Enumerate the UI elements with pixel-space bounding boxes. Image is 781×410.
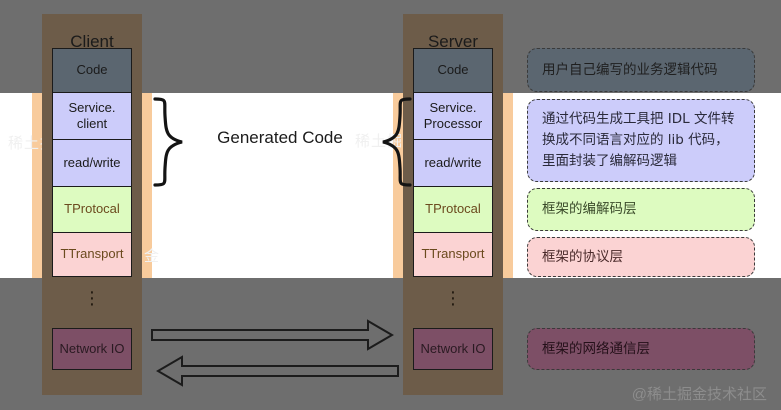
client-layer-network-io[interactable]: Network IO <box>52 328 132 370</box>
note-protocol[interactable]: 框架的编解码层 <box>527 188 755 231</box>
note-transport[interactable]: 框架的协议层 <box>527 237 755 277</box>
client-layer-network-io-label: Network IO <box>59 341 124 357</box>
note-network-text: 框架的网络通信层 <box>542 339 650 360</box>
request-arrow-right <box>152 321 392 349</box>
generated-code-label: Generated Code <box>190 128 370 148</box>
server-ellipsis-icon: ··· <box>403 289 503 307</box>
note-network[interactable]: 框架的网络通信层 <box>527 328 755 370</box>
server-layer-network-io[interactable]: Network IO <box>413 328 493 370</box>
server-layer-service-processor[interactable]: Service.Processor <box>413 93 493 140</box>
note-transport-text: 框架的协议层 <box>542 247 623 268</box>
client-column: Client Code Service.client read/write TP… <box>42 14 142 395</box>
server-layer-tprotocal[interactable]: TProtocal <box>413 187 493 233</box>
client-layer-service-client[interactable]: Service.client <box>52 93 132 140</box>
server-layer-ttransport[interactable]: TTransport <box>413 233 493 277</box>
response-arrow-left <box>158 357 398 385</box>
client-layer-read-write-label: read/write <box>63 155 120 171</box>
note-generated-text: 通过代码生成工具把 IDL 文件转换成不同语言对应的 lib 代码，里面封装了编… <box>542 109 740 172</box>
client-layer-tprotocal-label: TProtocal <box>64 201 120 217</box>
client-layer-service-client-label: Service.client <box>69 100 116 133</box>
server-layer-code[interactable]: Code <box>413 48 493 93</box>
client-layer-read-write[interactable]: read/write <box>52 140 132 187</box>
left-brace-icon <box>152 96 188 188</box>
network-arrows <box>150 318 400 388</box>
server-layer-tprotocal-label: TProtocal <box>425 201 481 217</box>
server-layer-network-io-label: Network IO <box>420 341 485 357</box>
client-layer-code-label: Code <box>76 62 107 78</box>
right-brace-icon <box>377 96 413 188</box>
watermark: @稀土掘金技术社区 <box>632 383 767 404</box>
client-layer-tprotocal[interactable]: TProtocal <box>52 187 132 233</box>
server-layer-service-processor-label: Service.Processor <box>424 100 483 133</box>
client-ellipsis-icon: ··· <box>42 289 142 307</box>
note-generated[interactable]: 通过代码生成工具把 IDL 文件转换成不同语言对应的 lib 代码，里面封装了编… <box>527 99 755 182</box>
client-layer-ttransport[interactable]: TTransport <box>52 233 132 277</box>
note-code-text: 用户自己编写的业务逻辑代码 <box>542 60 718 81</box>
server-layer-read-write-label: read/write <box>424 155 481 171</box>
client-layer-ttransport-label: TTransport <box>60 246 123 262</box>
server-layer-read-write[interactable]: read/write <box>413 140 493 187</box>
note-protocol-text: 框架的编解码层 <box>542 199 637 220</box>
client-layer-code[interactable]: Code <box>52 48 132 93</box>
server-column: Server Code Service.Processor read/write… <box>403 14 503 395</box>
diagram-canvas: 稀土掘金 稀土掘金 稀土掘金 稀土掘金 Client Code Service.… <box>0 0 781 410</box>
server-layer-code-label: Code <box>437 62 468 78</box>
note-code[interactable]: 用户自己编写的业务逻辑代码 <box>527 48 755 92</box>
server-layer-ttransport-label: TTransport <box>421 246 484 262</box>
